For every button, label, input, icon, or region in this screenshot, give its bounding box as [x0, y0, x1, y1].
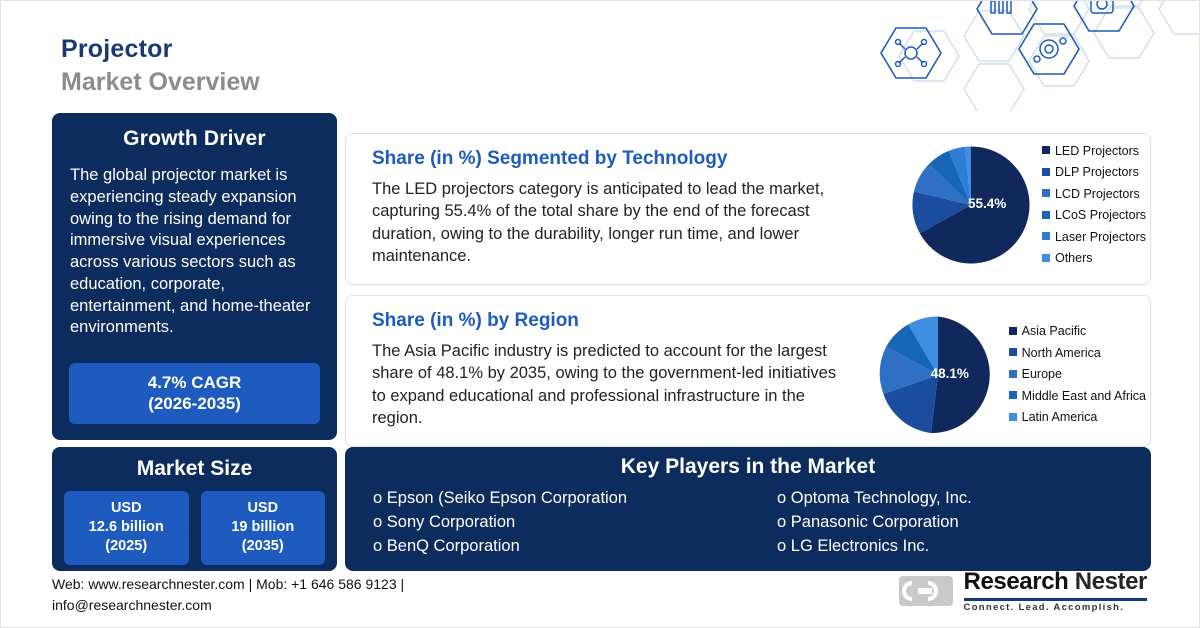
region-legend: Asia Pacific North America Europe Middle… [1003, 321, 1146, 429]
legend-swatch-icon [1042, 254, 1050, 262]
brand-text: Research Nester Connect. Lead. Accomplis… [964, 568, 1147, 613]
legend-swatch-icon [1009, 348, 1017, 356]
market-size-amount-2025: 12.6 billion [66, 518, 187, 537]
list-item: Sony Corporation [373, 511, 719, 535]
footer-contact: Web: www.researchnester.com | Mob: +1 64… [52, 574, 404, 615]
market-size-value-2025: USD 12.6 billion (2025) [64, 491, 189, 565]
list-item: Optoma Technology, Inc. [777, 487, 1123, 511]
technology-share-card: Share (in %) Segmented by Technology The… [345, 133, 1151, 285]
key-players-heading: Key Players in the Market [345, 455, 1151, 479]
technology-pie-chart: 55.4% LED Projectors DLP Projectors LCD … [906, 140, 1146, 270]
legend-label: Laser Projectors [1055, 230, 1146, 244]
market-size-currency-2035: USD [203, 499, 324, 518]
brand-name-part-2: Nester [1075, 568, 1147, 595]
brand-name-part-1: Research [964, 568, 1069, 595]
legend-swatch-icon [1042, 146, 1050, 154]
key-players-column-2: Optoma Technology, Inc. Panasonic Corpor… [719, 487, 1123, 559]
market-size-currency-2025: USD [66, 499, 187, 518]
legend-label: North America [1022, 346, 1101, 360]
market-size-panel: Market Size USD 12.6 billion (2025) USD … [52, 447, 337, 571]
technology-pie-data-label: 55.4% [968, 196, 1006, 211]
cagr-badge: 4.7% CAGR (2026-2035) [69, 363, 320, 425]
research-nester-mark-icon [898, 572, 954, 610]
market-size-heading: Market Size [64, 457, 325, 481]
title-line-2: Market Overview [61, 68, 260, 97]
legend-swatch-icon [1009, 413, 1017, 421]
title-line-1: Projector [61, 35, 260, 64]
legend-label: Middle East and Africa [1022, 389, 1146, 403]
market-size-year-2035: (2035) [203, 537, 324, 556]
market-size-year-2025: (2025) [66, 537, 187, 556]
brand-divider [964, 598, 1147, 601]
legend-item: Laser Projectors [1042, 227, 1146, 249]
list-item: Epson (Seiko Epson Corporation [373, 487, 719, 511]
legend-label: LCoS Projectors [1055, 208, 1146, 222]
list-item: LG Electronics Inc. [777, 535, 1123, 559]
page-title: Projector Market Overview [61, 35, 260, 97]
legend-label: LED Projectors [1055, 144, 1139, 158]
hexagon-decoration [869, 1, 1199, 111]
legend-swatch-icon [1009, 327, 1017, 335]
cagr-period: (2026-2035) [69, 393, 320, 414]
legend-item: LCD Projectors [1042, 184, 1146, 206]
growth-driver-panel: Growth Driver The global projector marke… [52, 113, 337, 440]
key-players-panel: Key Players in the Market Epson (Seiko E… [345, 447, 1151, 571]
legend-item: Europe [1009, 364, 1146, 386]
legend-label: DLP Projectors [1055, 165, 1139, 179]
legend-label: LCD Projectors [1055, 187, 1140, 201]
brand-name: Research Nester [964, 568, 1147, 596]
legend-item: Others [1042, 248, 1146, 270]
footer-line-1: Web: www.researchnester.com | Mob: +1 64… [52, 574, 404, 594]
legend-item: Asia Pacific [1009, 321, 1146, 343]
region-card-body: The Asia Pacific industry is predicted t… [372, 340, 842, 429]
brand-logo: Research Nester Connect. Lead. Accomplis… [898, 568, 1147, 613]
brand-tagline: Connect. Lead. Accomplish. [964, 602, 1147, 613]
legend-item: LED Projectors [1042, 141, 1146, 163]
legend-swatch-icon [1042, 168, 1050, 176]
technology-legend: LED Projectors DLP Projectors LCD Projec… [1036, 141, 1146, 270]
region-pie-data-label: 48.1% [931, 366, 969, 381]
footer-line-2: info@researchnester.com [52, 595, 404, 615]
legend-item: Middle East and Africa [1009, 386, 1146, 408]
legend-swatch-icon [1009, 370, 1017, 378]
legend-label: Latin America [1022, 410, 1098, 424]
market-size-amount-2035: 19 billion [203, 518, 324, 537]
growth-driver-heading: Growth Driver [70, 127, 319, 151]
legend-item: North America [1009, 343, 1146, 365]
market-size-value-2035: USD 19 billion (2035) [201, 491, 326, 565]
key-players-column-1: Epson (Seiko Epson Corporation Sony Corp… [373, 487, 719, 559]
legend-item: LCoS Projectors [1042, 205, 1146, 227]
legend-swatch-icon [1042, 232, 1050, 240]
infographic-page: Projector Market Overview [0, 0, 1200, 628]
growth-driver-body: The global projector market is experienc… [70, 165, 319, 339]
cagr-value: 4.7% CAGR [69, 372, 320, 393]
legend-swatch-icon [1009, 391, 1017, 399]
region-pie-chart: 48.1% Asia Pacific North America Europe … [873, 310, 1146, 440]
legend-swatch-icon [1042, 211, 1050, 219]
region-share-card: Share (in %) by Region The Asia Pacific … [345, 295, 1151, 447]
legend-label: Asia Pacific [1022, 324, 1087, 338]
legend-item: DLP Projectors [1042, 162, 1146, 184]
list-item: Panasonic Corporation [777, 511, 1123, 535]
technology-card-body: The LED projectors category is anticipat… [372, 178, 842, 267]
legend-label: Europe [1022, 367, 1062, 381]
legend-label: Others [1055, 251, 1093, 265]
legend-swatch-icon [1042, 189, 1050, 197]
legend-item: Latin America [1009, 407, 1146, 429]
list-item: BenQ Corporation [373, 535, 719, 559]
